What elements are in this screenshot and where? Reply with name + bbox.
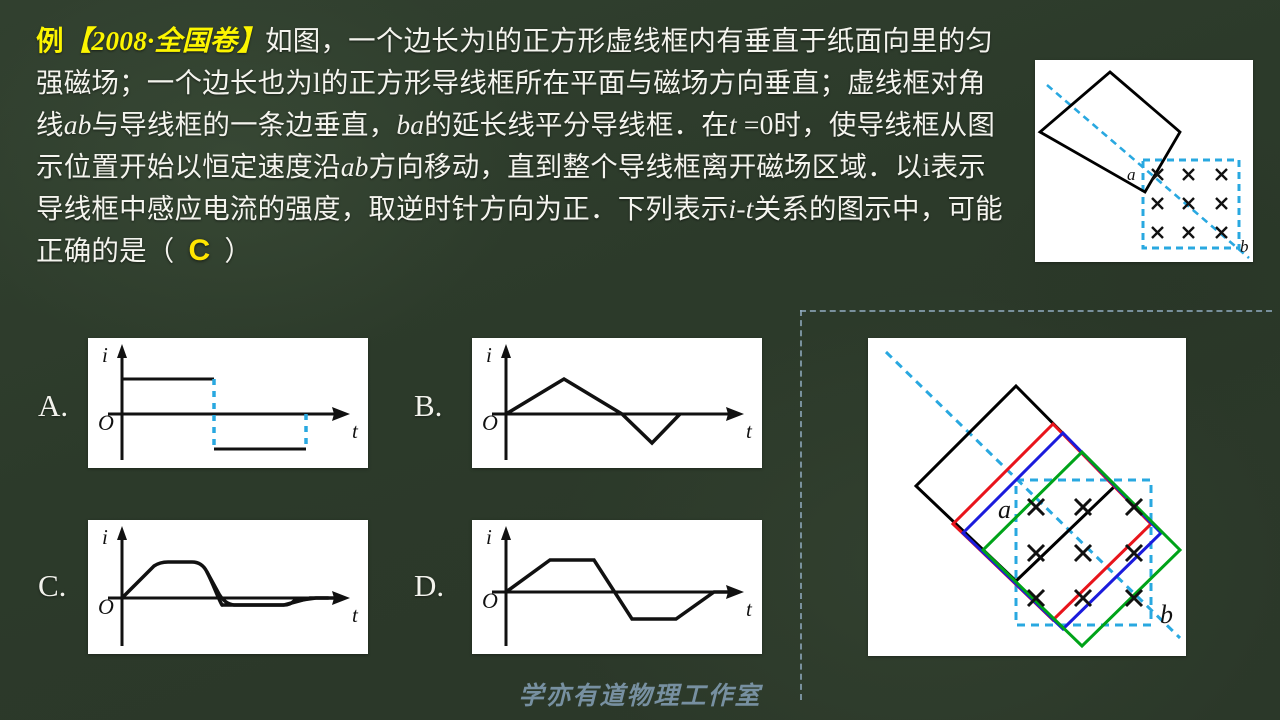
svg-text:O: O xyxy=(98,594,114,619)
option-panel-b[interactable]: i O t xyxy=(472,338,762,468)
figure-motion-sequence[interactable]: a b xyxy=(868,338,1186,656)
svg-text:i: i xyxy=(486,525,492,549)
question-body-line4a: 线平分导线框．在 xyxy=(507,109,729,140)
svg-text:i: i xyxy=(102,343,108,367)
question-body-line7b: ） xyxy=(224,235,252,266)
question-body-line6a: 流的强度，取逆时针方向为正．下列表示 xyxy=(230,193,729,224)
figure-main-label-a: a xyxy=(998,495,1011,524)
question-body-line1: 如图，一个边长为l的正方形虚线框内有垂直 xyxy=(265,25,799,56)
divider-vertical-dashed xyxy=(800,310,802,700)
question-source: 【2008·全国卷】 xyxy=(64,25,265,56)
figure-main-label-b: b xyxy=(1160,600,1173,629)
label-ba: ba xyxy=(396,109,424,140)
svg-text:O: O xyxy=(482,410,498,435)
label-i-t: i-t xyxy=(729,193,754,224)
answer-choice: C xyxy=(175,234,225,267)
svg-text:t: t xyxy=(352,419,359,443)
option-label-a: A. xyxy=(38,388,68,424)
svg-text:O: O xyxy=(98,410,114,435)
question-text: 例【2008·全国卷】如图，一个边长为l的正方形虚线框内有垂直于纸面向里的匀强磁… xyxy=(36,20,1011,272)
option-panel-a[interactable]: i O t xyxy=(88,338,368,468)
question-prefix: 例 xyxy=(36,25,64,56)
figure-initial-position[interactable]: a b xyxy=(1035,60,1253,262)
option-label-b: B. xyxy=(414,388,442,424)
figure-top-label-b: b xyxy=(1240,237,1249,256)
svg-text:i: i xyxy=(102,525,108,549)
svg-text:t: t xyxy=(746,597,753,621)
option-panel-d[interactable]: i O t xyxy=(472,520,762,654)
divider-horizontal-dashed xyxy=(800,310,1272,312)
svg-text:t: t xyxy=(746,419,753,443)
label-t: t xyxy=(729,109,737,140)
question-body-line7a: 确的是（ xyxy=(64,235,175,266)
field-crosses xyxy=(1152,169,1227,238)
option-label-d: D. xyxy=(414,568,444,604)
option-label-c: C. xyxy=(38,568,66,604)
question-body-line3c: 的延长 xyxy=(424,109,507,140)
label-ab-1: ab xyxy=(64,109,92,140)
figure-top-label-a: a xyxy=(1127,165,1136,184)
option-panel-c[interactable]: i O t xyxy=(88,520,368,654)
question-body-line3b: 与导线框的一条边垂直， xyxy=(92,109,397,140)
watermark-studio-name: 学亦有道物理工作室 xyxy=(0,676,1280,712)
slide-root: 例【2008·全国卷】如图，一个边长为l的正方形虚线框内有垂直于纸面向里的匀强磁… xyxy=(0,0,1280,720)
svg-text:i: i xyxy=(486,343,492,367)
label-ab-2: ab xyxy=(341,151,369,182)
svg-text:O: O xyxy=(482,588,498,613)
loop-position-2-red xyxy=(953,424,1151,620)
svg-text:t: t xyxy=(352,603,359,627)
